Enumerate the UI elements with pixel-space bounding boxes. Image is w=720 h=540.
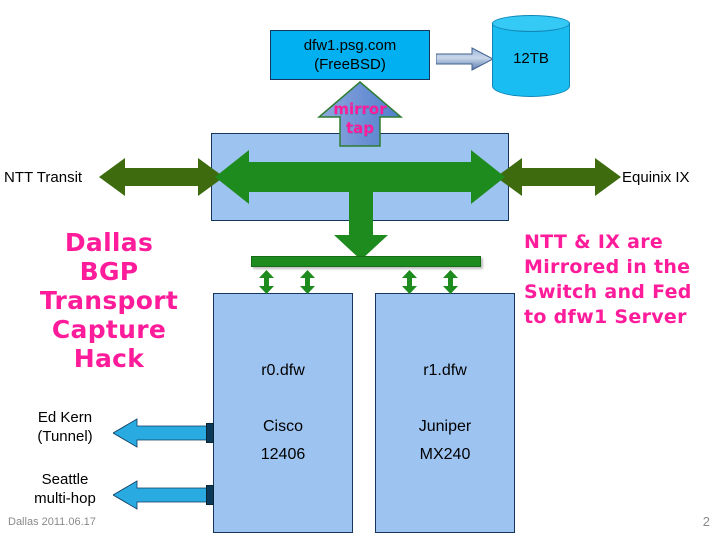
mirror-feed-down-arrow-icon [333, 183, 389, 261]
equinix-ix-arrow-icon [496, 156, 621, 198]
router-link-arrow-icon [442, 270, 459, 294]
server-node-dfw1[interactable]: dfw1.psg.com (FreeBSD) [270, 30, 430, 80]
mirror-note-annotation: NTT & IX are Mirrored in the Switch and … [524, 230, 720, 330]
router-link-arrow-icon [401, 270, 418, 294]
ntt-transit-arrow-icon [99, 156, 224, 198]
ntt-transit-label: NTT Transit [4, 168, 104, 187]
router-link-arrow-icon [258, 270, 275, 294]
slide-title-annotation: Dallas BGP Transport Capture Hack [14, 228, 204, 373]
seattle-arrow-icon [113, 480, 213, 510]
ed-kern-arrow-icon [113, 418, 213, 448]
router-link-arrow-icon [299, 270, 316, 294]
router-node-r1[interactable]: r1.dfw Juniper MX240 [375, 293, 515, 533]
router-port-connector [206, 423, 214, 443]
storage-cylinder[interactable]: 12TB [492, 14, 570, 106]
server-to-storage-arrow-icon [436, 47, 494, 71]
page-number: 2 [690, 514, 710, 529]
mirror-tap-label: mirror tap [317, 100, 403, 138]
router-node-r0[interactable]: r0.dfw Cisco 12406 [213, 293, 353, 533]
seattle-label: Seattle multi-hop [20, 470, 110, 508]
footer-text: Dallas 2011.06.17 [8, 516, 96, 528]
storage-label: 12TB [492, 50, 570, 67]
ed-kern-label: Ed Kern (Tunnel) [20, 408, 110, 446]
equinix-ix-label: Equinix IX [622, 168, 718, 187]
cylinder-top-icon [492, 15, 570, 32]
slide-canvas: dfw1.psg.com (FreeBSD) 12TB [0, 0, 720, 540]
router-port-connector [206, 485, 214, 505]
router-bus-bar [251, 256, 481, 267]
